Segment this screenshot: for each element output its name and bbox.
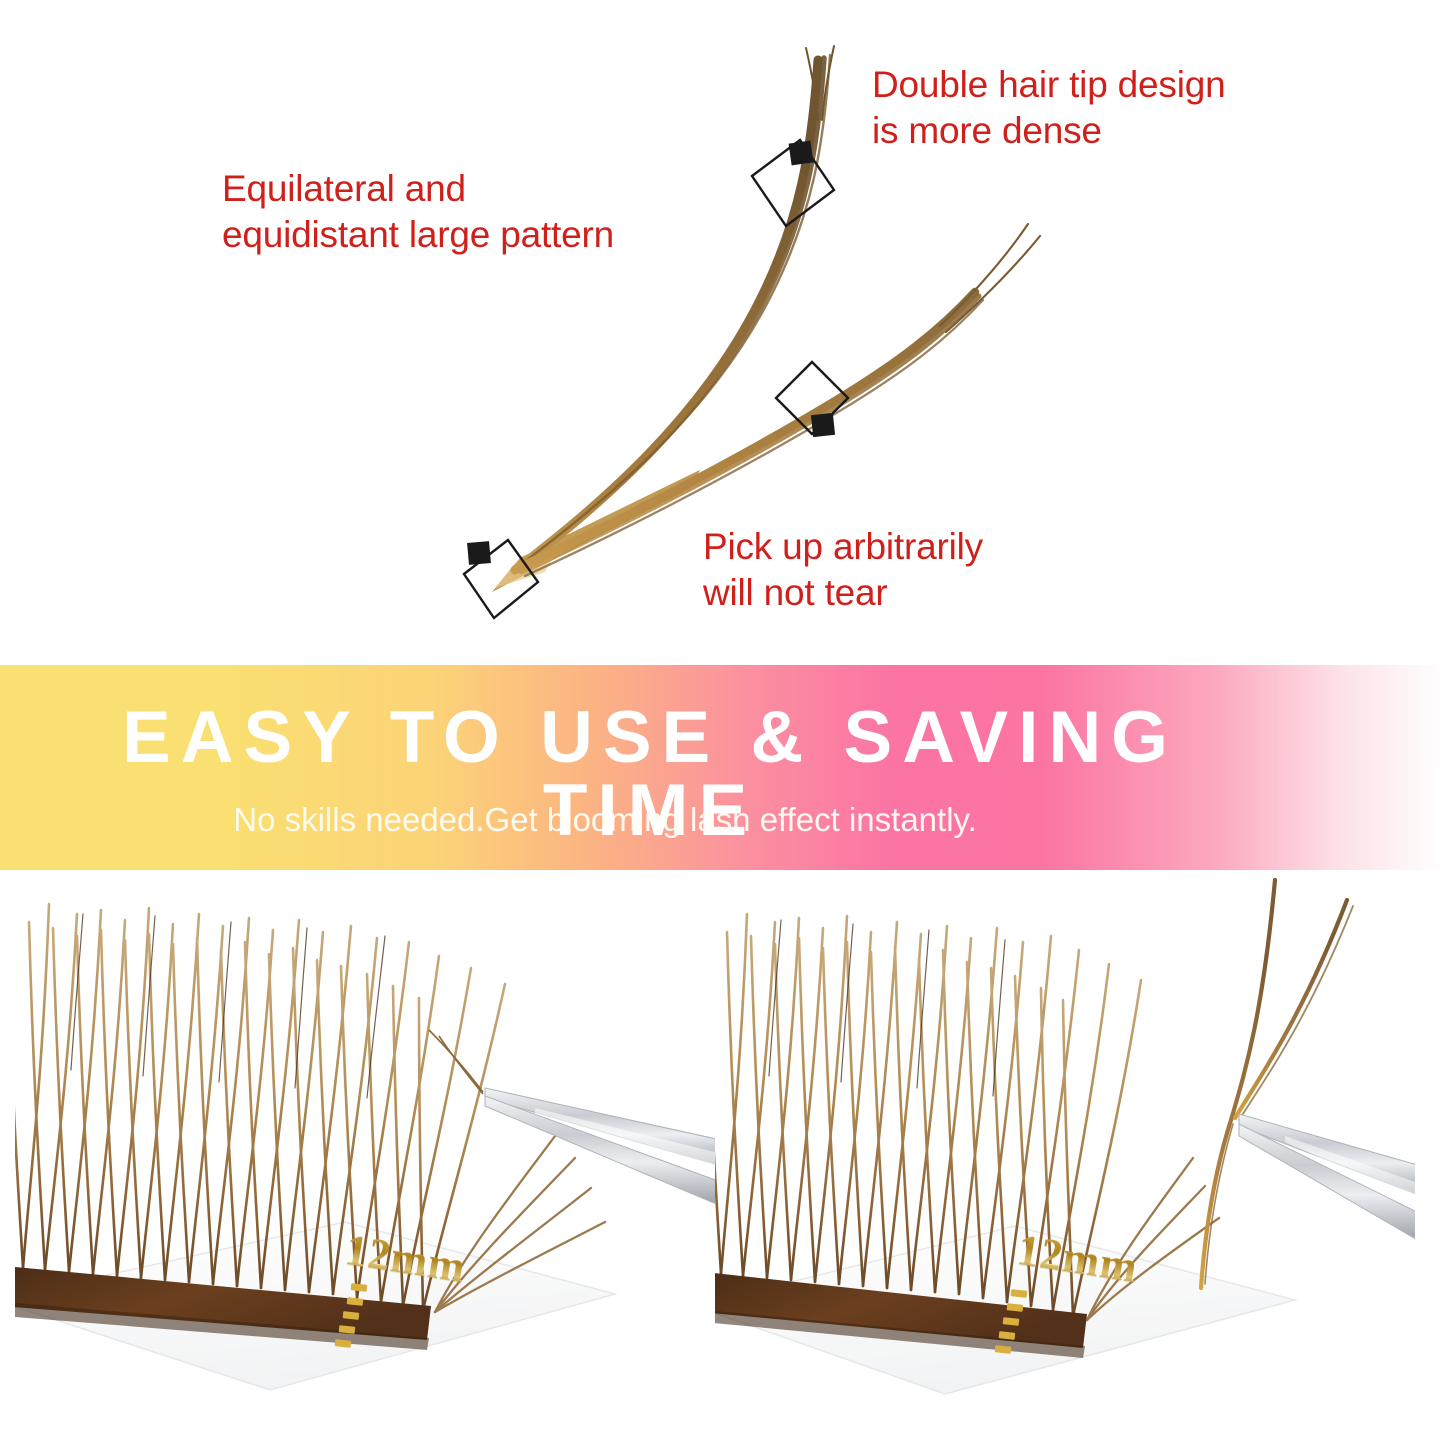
banner-subtitle: No skills needed.Get blooming lash effec…: [0, 801, 1210, 839]
marker-base-callout-icon: [464, 540, 538, 618]
photo-lash-tray-left: 12mm: [15, 870, 715, 1445]
lash-tray-right-illustration: [715, 870, 1415, 1445]
callout-double-tip: Double hair tip design is more dense: [872, 62, 1226, 154]
photo-lash-tray-right: 12mm: [715, 870, 1415, 1445]
callout-pick-up: Pick up arbitrarily will not tear: [703, 524, 983, 616]
callout-equilateral: Equilateral and equidistant large patter…: [222, 166, 614, 258]
product-infographic: Equilateral and equidistant large patter…: [0, 0, 1445, 1445]
lash-fiber-diagram-section: Equilateral and equidistant large patter…: [0, 0, 1445, 665]
gradient-banner: EASY TO USE & SAVING TIME No skills need…: [0, 665, 1445, 870]
lash-tray-left-illustration: [15, 870, 715, 1445]
photo-row: 12mm: [0, 870, 1445, 1445]
